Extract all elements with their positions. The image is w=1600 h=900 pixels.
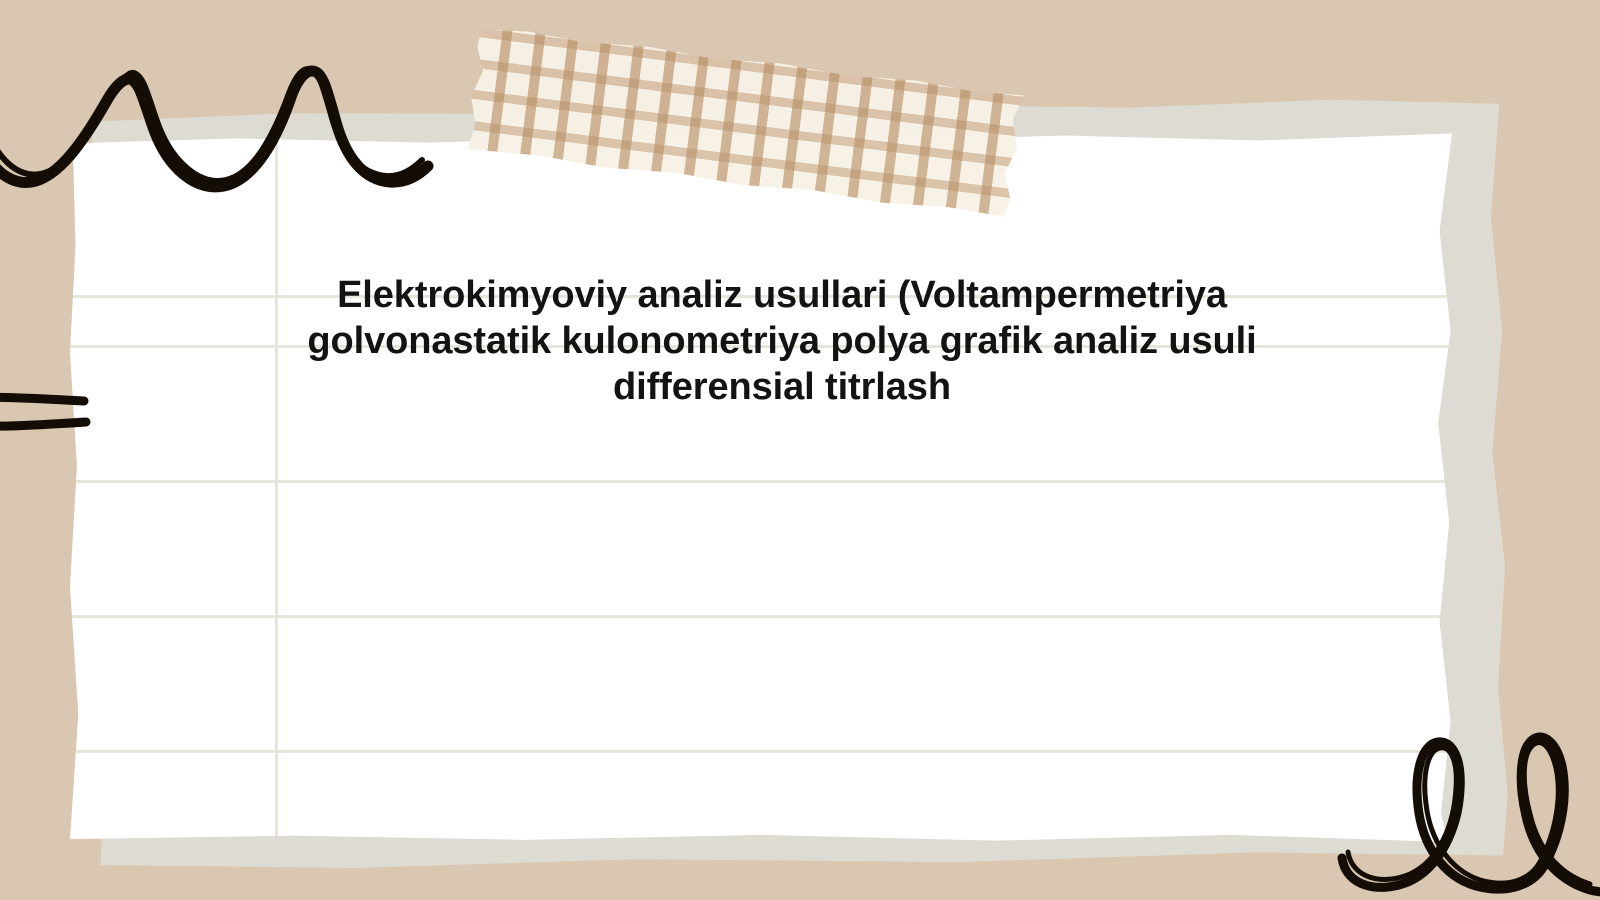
page-title: Elektrokimyoviy analiz usullari (Voltamp… (276, 272, 1288, 410)
ruled-paper-sheet (70, 132, 1452, 842)
slide-canvas: Elektrokimyoviy analiz usullari (Voltamp… (0, 0, 1600, 900)
slide-title-block: Elektrokimyoviy analiz usullari (Voltamp… (276, 272, 1288, 410)
paper-margin-line (275, 132, 278, 842)
